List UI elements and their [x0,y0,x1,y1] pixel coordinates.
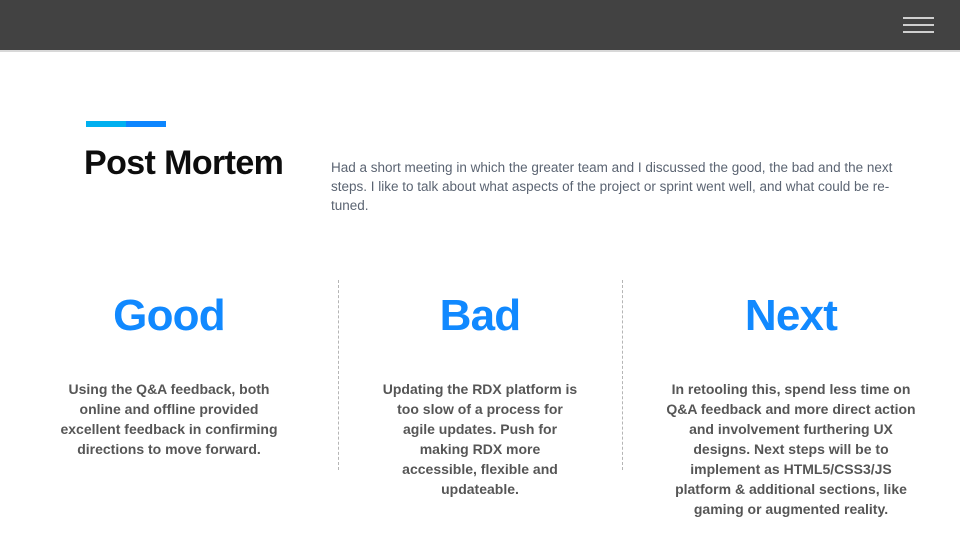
column-divider-2 [622,280,623,470]
hamburger-line-1 [903,17,934,19]
accent-rule-segment-right [126,121,166,127]
column-heading-good: Good [18,294,320,338]
column-heading-bad: Bad [356,294,604,338]
top-navigation-bar [0,0,960,50]
hamburger-line-2 [903,24,934,26]
column-good: Good Using the Q&A feedback, both online… [0,280,338,459]
column-bad: Bad Updating the RDX platform is too slo… [338,280,622,499]
accent-rule [86,121,166,127]
column-divider-1 [338,280,339,470]
accent-rule-segment-left [86,121,126,127]
top-bar-underline [0,50,960,52]
hamburger-line-3 [903,31,934,33]
column-next: Next In retooling this, spend less time … [622,280,960,519]
column-body-next: In retooling this, spend less time on Q&… [663,379,919,519]
slide-canvas: Post Mortem Had a short meeting in which… [0,0,960,540]
intro-paragraph: Had a short meeting in which the greater… [331,158,897,215]
page-title: Post Mortem [84,145,283,182]
hamburger-menu-icon[interactable] [903,17,934,33]
column-body-bad: Updating the RDX platform is too slow of… [382,379,578,499]
columns-section: Good Using the Q&A feedback, both online… [0,280,960,530]
column-heading-next: Next [640,294,942,338]
column-body-good: Using the Q&A feedback, both online and … [50,379,288,459]
